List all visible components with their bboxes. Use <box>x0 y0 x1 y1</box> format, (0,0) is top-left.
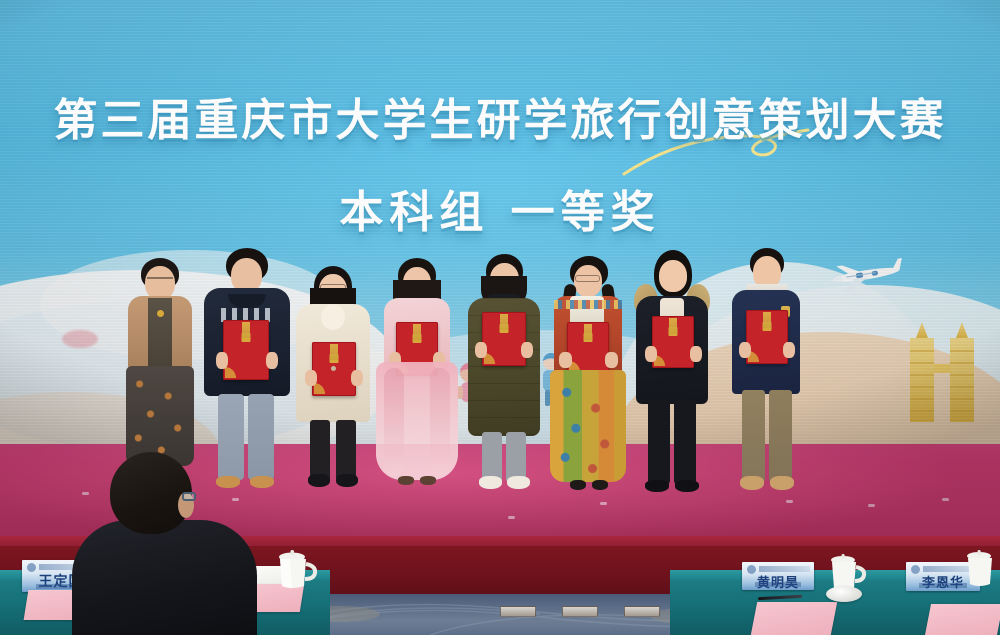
certificate <box>482 312 526 366</box>
certificate <box>223 320 269 380</box>
pink-paper <box>751 602 837 635</box>
seated-audience-person <box>82 452 252 635</box>
pink-paper <box>925 604 1000 635</box>
twin-tower-icon <box>900 312 986 422</box>
carpet-object <box>500 606 536 617</box>
page-title: 第三届重庆市大学生研学旅行创意策划大赛 <box>0 84 1000 148</box>
floor-glint <box>942 498 949 501</box>
person-awardee <box>548 256 628 500</box>
award-category-title: 本科组 一等奖 <box>0 176 1000 240</box>
floor-glint <box>600 502 607 505</box>
seated-person-head <box>110 452 192 534</box>
certificate <box>746 310 788 364</box>
nameplate-subtitle <box>755 582 801 587</box>
airplane-icon <box>822 258 908 292</box>
teacup-icon <box>272 548 318 590</box>
seated-person-suit <box>72 520 257 635</box>
certificate <box>652 316 694 368</box>
certificate <box>567 322 609 374</box>
saucer <box>826 586 862 602</box>
person-awardee <box>296 266 370 498</box>
nameplate-center-right: 黄明昊 <box>742 562 814 590</box>
pink-accent-graphic <box>62 330 98 348</box>
floor-glint <box>868 504 875 507</box>
person-awardee <box>378 258 456 498</box>
carpet-object <box>562 606 598 617</box>
person-awardee <box>466 254 542 498</box>
nameplate-name-text: 黄明昊 <box>742 572 814 590</box>
teacup-icon <box>960 548 1000 588</box>
person-awardee <box>632 250 712 498</box>
floor-glint <box>786 500 793 503</box>
award-ceremony-photo: 第三届重庆市大学生研学旅行创意策划大赛 本科组 一等奖 <box>0 0 1000 635</box>
person-awardee <box>728 248 804 498</box>
floor-glint <box>508 516 515 519</box>
carpet-object <box>624 606 660 617</box>
glasses-icon <box>182 492 196 501</box>
